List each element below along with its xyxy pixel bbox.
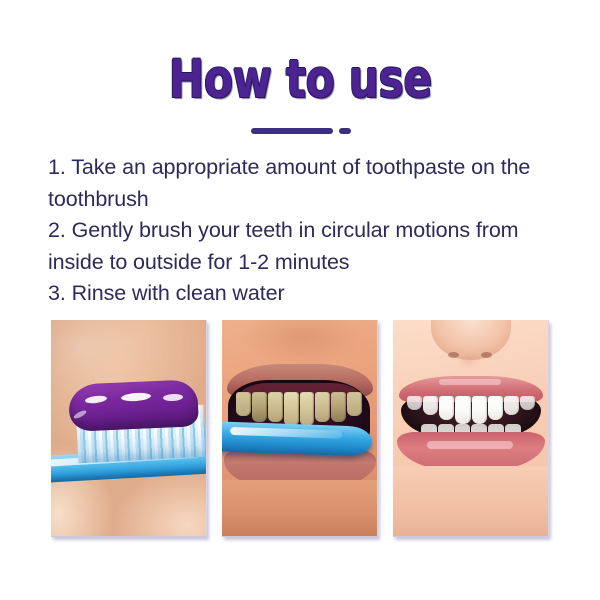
page-title-block: How to use <box>0 52 600 108</box>
tooth <box>407 396 422 410</box>
instruction-step-3: 3. Rinse with clean water <box>48 278 568 310</box>
chin <box>393 466 548 536</box>
tooth <box>472 396 487 424</box>
tooth <box>488 396 503 420</box>
photo-stained-teeth-brushing <box>222 320 378 537</box>
philtrum <box>457 356 481 378</box>
tooth <box>236 392 251 416</box>
divider-long-bar <box>251 128 333 134</box>
tooth <box>331 392 346 422</box>
tooth <box>284 392 299 426</box>
page-root: How to use 1. Take an appropriate amount… <box>0 0 600 600</box>
page-title: How to use <box>169 52 432 108</box>
tooth <box>315 392 330 422</box>
stained-teeth-row <box>236 392 362 426</box>
chin <box>222 480 377 536</box>
tooth <box>504 396 519 415</box>
title-divider <box>0 127 600 137</box>
instruction-step-1: 1. Take an appropriate amount of toothpa… <box>48 152 568 215</box>
instruction-steps: 1. Take an appropriate amount of toothpa… <box>48 152 568 310</box>
tooth <box>439 396 454 420</box>
photo-gallery <box>51 320 549 536</box>
white-teeth-upper-row <box>407 396 535 424</box>
tooth <box>300 392 315 426</box>
tooth <box>252 392 267 422</box>
instruction-step-2: 2. Gently brush your teeth in circular m… <box>48 215 568 278</box>
tooth <box>520 396 535 410</box>
nostril-right <box>481 352 492 358</box>
purple-toothpaste-blob <box>68 379 199 432</box>
photo-toothbrush-with-paste <box>51 320 207 537</box>
divider-short-dash <box>339 128 351 134</box>
tooth <box>347 392 362 416</box>
nose <box>431 320 511 360</box>
tooth <box>268 392 283 422</box>
tooth <box>455 396 470 424</box>
photo-white-smile <box>393 320 549 537</box>
tooth <box>423 396 438 415</box>
blue-toothbrush-head <box>222 421 372 457</box>
